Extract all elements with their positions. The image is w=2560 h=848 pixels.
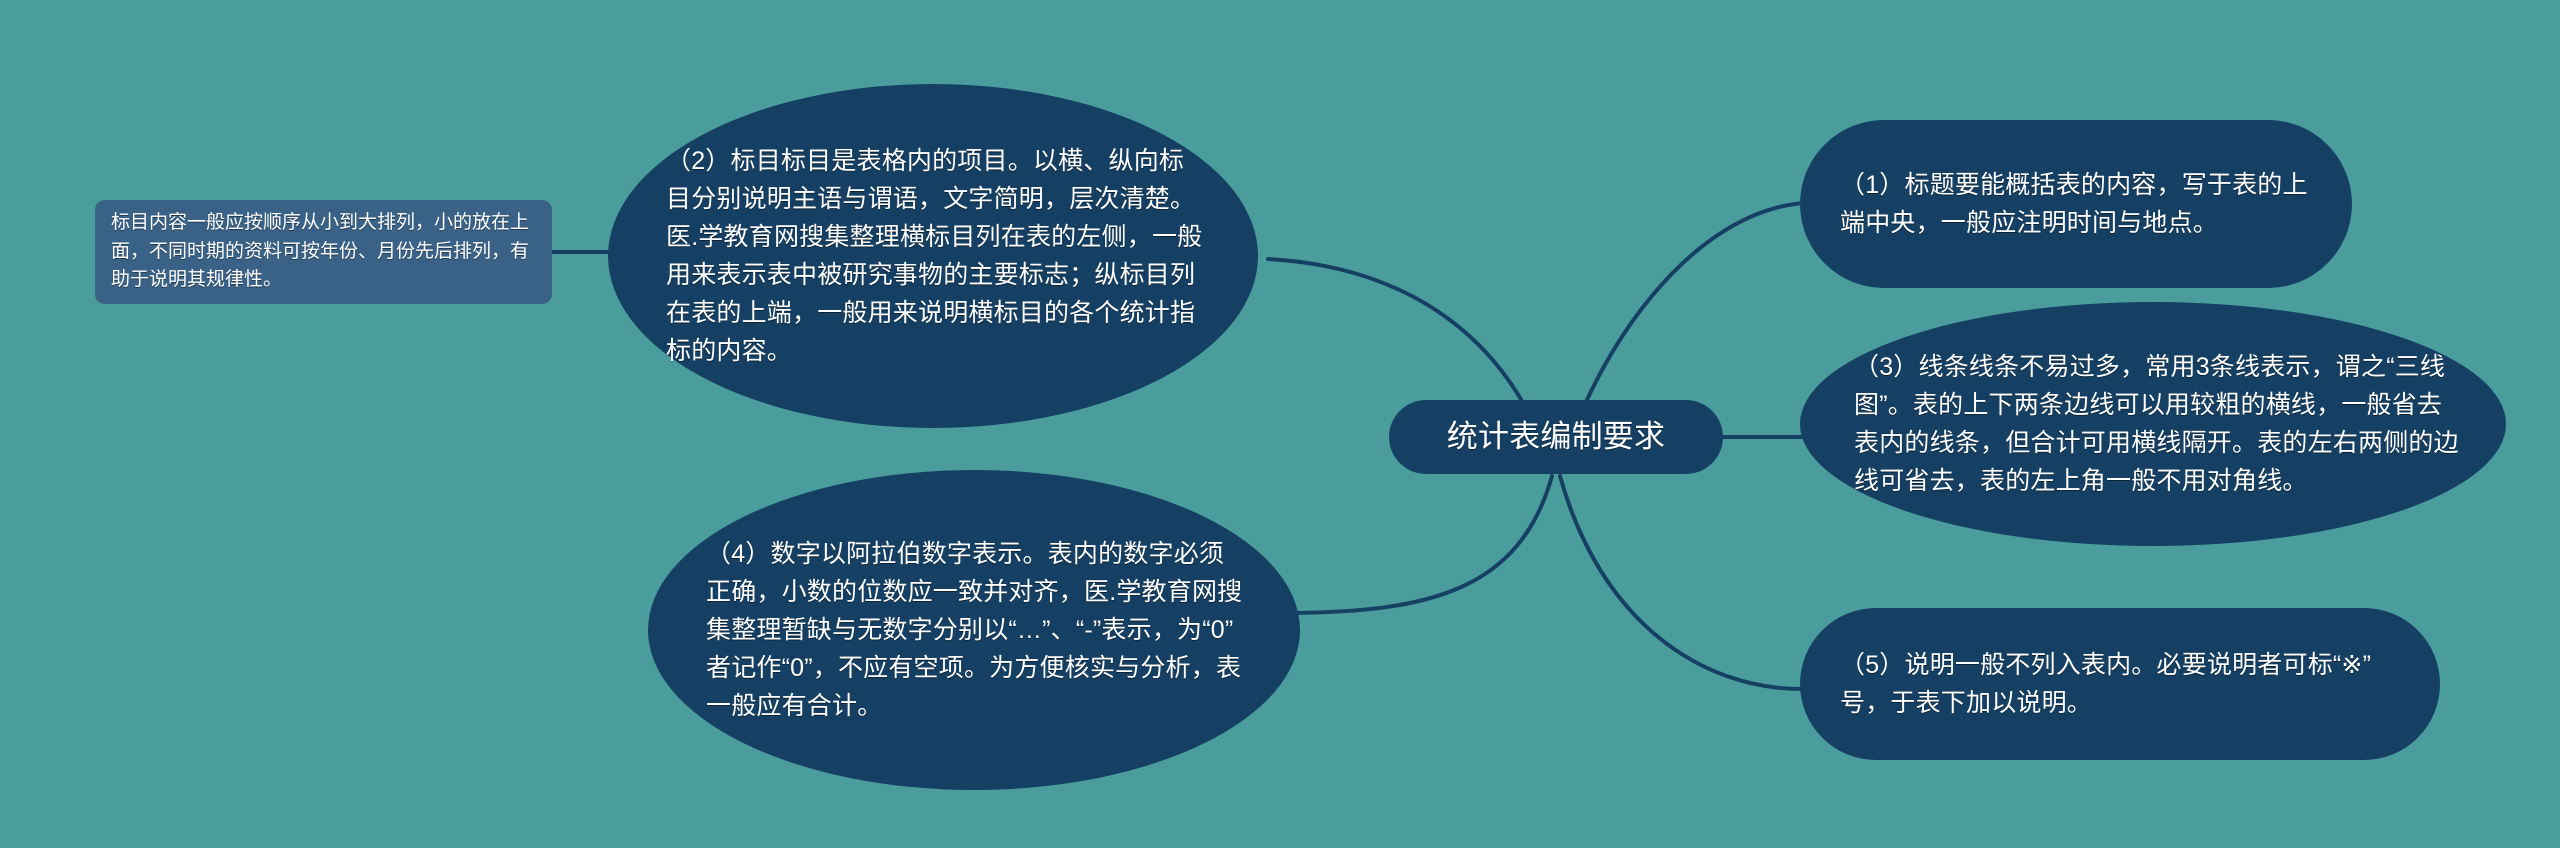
branch-node-5[interactable]: （5）说明一般不列入表内。必要说明者可标“※”号，于表下加以说明。: [1800, 608, 2440, 760]
branch-node-2[interactable]: （2）标目标目是表格内的项目。以横、纵向标目分别说明主语与谓语，文字简明，层次清…: [608, 84, 1258, 428]
root-node[interactable]: 统计表编制要求: [1389, 400, 1723, 474]
mindmap-canvas: 统计表编制要求 （1）标题要能概括表的内容，写于表的上端中央，一般应注明时间与地…: [0, 0, 2560, 848]
branch-node-5-text: （5）说明一般不列入表内。必要说明者可标“※”号，于表下加以说明。: [1840, 646, 2406, 722]
branch-node-4-text: （4）数字以阿拉伯数字表示。表内的数字必须正确，小数的位数应一致并对齐，医.学教…: [706, 535, 1248, 725]
branch-node-4[interactable]: （4）数字以阿拉伯数字表示。表内的数字必须正确，小数的位数应一致并对齐，医.学教…: [648, 470, 1300, 790]
connector-root-to-node-4: [1290, 476, 1552, 613]
branch-node-1[interactable]: （1）标题要能概括表的内容，写于表的上端中央，一般应注明时间与地点。: [1800, 120, 2352, 288]
root-node-label: 统计表编制要求: [1389, 418, 1723, 455]
branch-node-1-text: （1）标题要能概括表的内容，写于表的上端中央，一般应注明时间与地点。: [1840, 166, 2318, 242]
annotation-callout[interactable]: 标目内容一般应按顺序从小到大排列，小的放在上面，不同时期的资料可按年份、月份先后…: [95, 200, 552, 304]
branch-node-2-text: （2）标目标目是表格内的项目。以横、纵向标目分别说明主语与谓语，文字简明，层次清…: [666, 142, 1206, 370]
branch-node-3-text: （3）线条线条不易过多，常用3条线表示，谓之“三线图”。表的上下两条边线可以用较…: [1854, 348, 2462, 500]
annotation-callout-text: 标目内容一般应按顺序从小到大排列，小的放在上面，不同时期的资料可按年份、月份先后…: [111, 209, 536, 295]
branch-node-3[interactable]: （3）线条线条不易过多，常用3条线表示，谓之“三线图”。表的上下两条边线可以用较…: [1800, 302, 2506, 546]
connector-root-to-node-5: [1560, 476, 1804, 689]
